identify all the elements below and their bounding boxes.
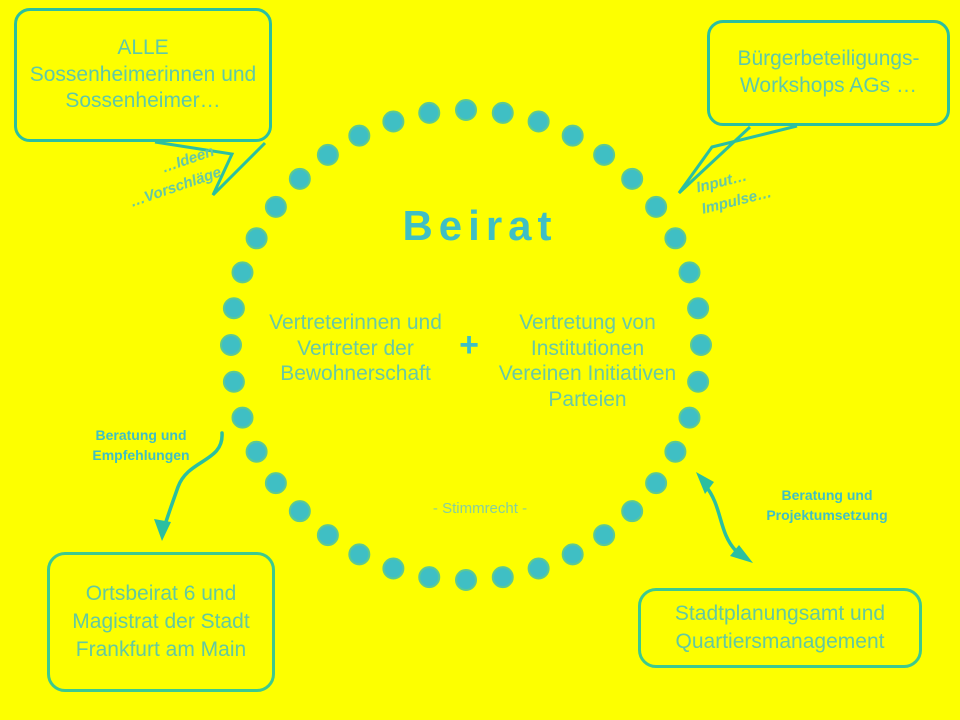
ring-dot	[594, 525, 614, 545]
ring-dot	[493, 567, 513, 587]
ring-dot	[290, 169, 310, 189]
ring-dot	[318, 525, 338, 545]
arrow-beratung-projektumsetzung	[705, 485, 736, 551]
arrow-caption-beratung-projektumsetzung: Beratung und Projektumsetzung	[742, 485, 912, 526]
ring-dot	[233, 262, 253, 282]
ring-dot	[622, 501, 642, 521]
box-stadtplanungsamt[interactable]: Stadtplanungsamt und Quartiersmanagement	[638, 588, 922, 668]
tag-input-impulse: Input… Impulse…	[694, 161, 774, 221]
box-ortsbeirat-text: Ortsbeirat 6 und Magistrat der Stadt Fra…	[60, 580, 262, 663]
ring-dot	[680, 262, 700, 282]
ring-dot	[221, 335, 241, 355]
ring-dot	[383, 559, 403, 579]
ring-dot	[456, 100, 476, 120]
page-title: Beirat	[330, 200, 630, 251]
ring-dot	[318, 145, 338, 165]
ring-dot	[290, 501, 310, 521]
ring-dot	[563, 126, 583, 146]
ring-dot	[646, 473, 666, 493]
arrow-caption-beratung-empfehlungen: Beratung und Empfehlungen	[68, 425, 214, 466]
arrowhead-down-left	[154, 519, 171, 541]
ring-dot	[665, 228, 685, 248]
ring-dot	[383, 112, 403, 132]
tag-ideen-vorschlaege: …Ideen …Vorschläge	[120, 141, 224, 213]
box-stadtplanungsamt-text: Stadtplanungsamt und Quartiersmanagement	[651, 600, 909, 655]
plus-icon: +	[447, 328, 491, 362]
speech-bubble-buergerbeteiligung[interactable]: Bürgerbeteiligungs- Workshops AGs …	[707, 20, 950, 126]
ring-dot	[266, 473, 286, 493]
arrowhead-down-right	[730, 545, 753, 563]
center-right-column: Vertretung von Institutionen Vereinen In…	[490, 310, 685, 412]
box-ortsbeirat[interactable]: Ortsbeirat 6 und Magistrat der Stadt Fra…	[47, 552, 275, 692]
ring-dot	[688, 298, 708, 318]
ring-dot	[594, 145, 614, 165]
diagram-canvas: ALLE Sossenheimerinnen und Sossenheimer……	[0, 0, 960, 720]
ring-dot	[563, 544, 583, 564]
ring-dot	[529, 112, 549, 132]
stimmrecht-note: - Stimmrecht -	[385, 500, 575, 518]
speech-bubble-alle-text: ALLE Sossenheimerinnen und Sossenheimer…	[27, 35, 259, 116]
ring-dot	[247, 228, 267, 248]
ring-dot	[266, 197, 286, 217]
ring-dot	[493, 103, 513, 123]
ring-dot	[665, 442, 685, 462]
ring-dot	[456, 570, 476, 590]
arrowhead-up-left	[696, 472, 714, 494]
ring-dot	[349, 544, 369, 564]
ring-dot	[224, 372, 244, 392]
ring-dot	[349, 126, 369, 146]
ring-dot	[691, 335, 711, 355]
center-left-column: Vertreterinnen und Vertreter der Bewohne…	[258, 310, 453, 387]
ring-dot	[419, 567, 439, 587]
speech-bubble-alle-sossenheimer[interactable]: ALLE Sossenheimerinnen und Sossenheimer…	[14, 8, 272, 142]
ring-dot	[646, 197, 666, 217]
ring-dot	[233, 408, 253, 428]
ring-dot	[529, 559, 549, 579]
speech-bubble-buergerbeteiligung-text: Bürgerbeteiligungs- Workshops AGs …	[720, 46, 937, 100]
ring-dot	[688, 372, 708, 392]
ring-dot	[622, 169, 642, 189]
ring-dot	[419, 103, 439, 123]
ring-dot	[224, 298, 244, 318]
ring-dot	[247, 442, 267, 462]
